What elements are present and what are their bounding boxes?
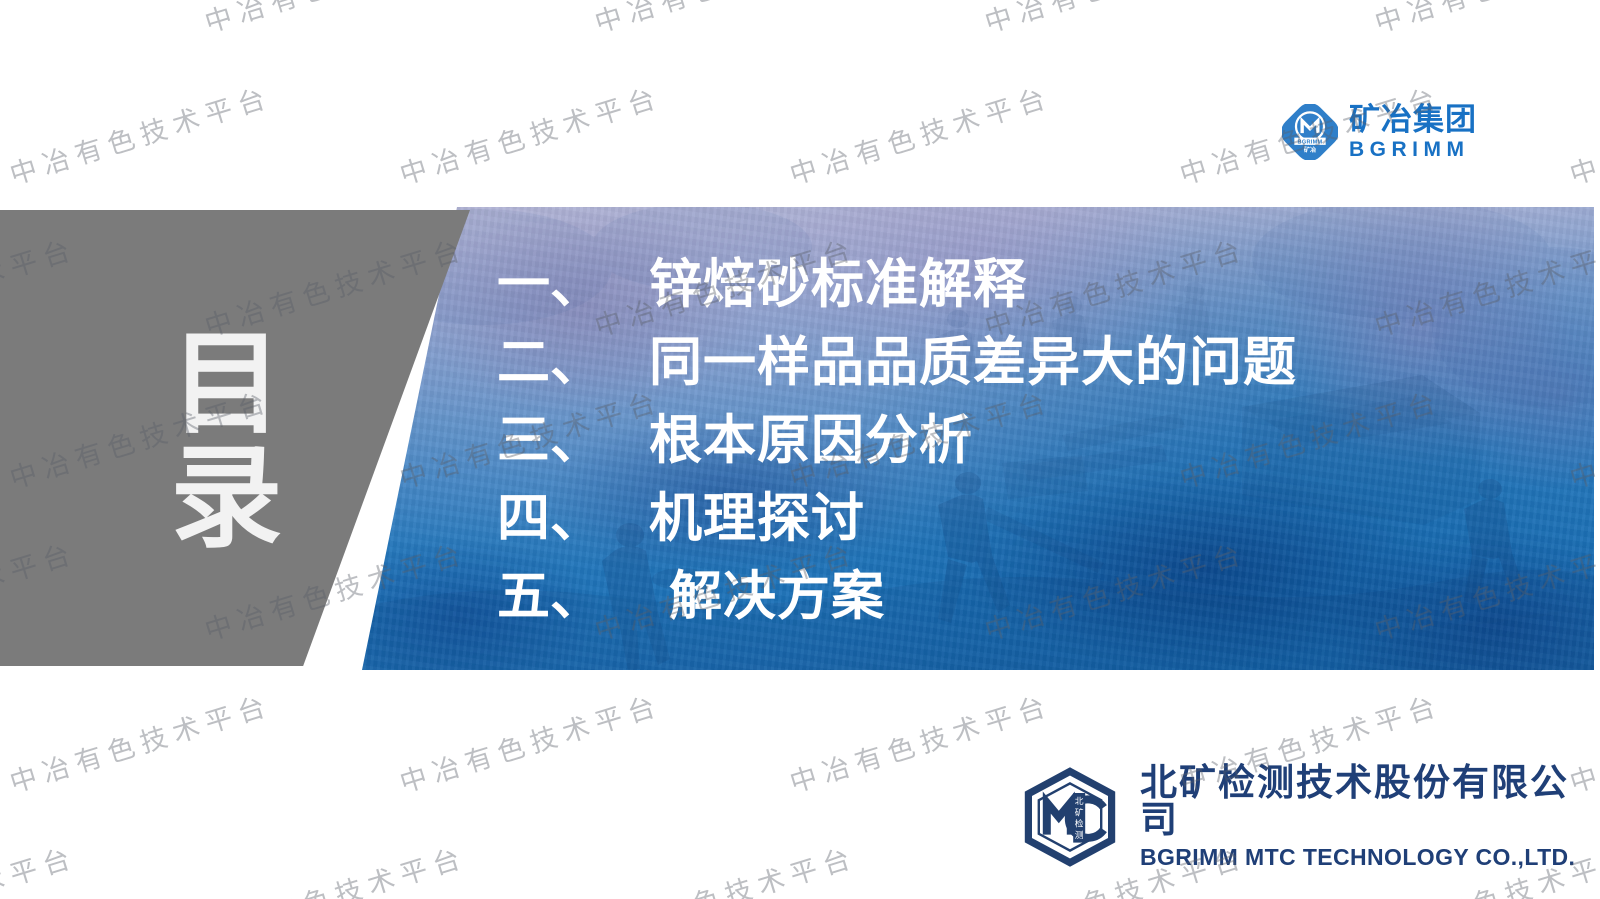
watermark-text: 中冶有色技术平台 xyxy=(394,75,666,192)
toc-item-number: 三、 xyxy=(497,402,649,480)
brand-name-en: BGRIMM xyxy=(1349,139,1477,160)
list-item[interactable]: 四、 机理探讨 xyxy=(497,480,1297,558)
svg-text:BGRIMM: BGRIMM xyxy=(1298,139,1323,145)
toc-item-label: 锌焙砂标准解释 xyxy=(649,246,1027,324)
watermark-text: 中冶有色技术平台 xyxy=(784,683,1056,800)
watermark-text: 中冶有色技术平台 xyxy=(0,835,81,899)
list-item[interactable]: 三、 根本原因分析 xyxy=(497,402,1297,480)
watermark-text: 中冶有色技术平台 xyxy=(589,0,861,40)
watermark-text: 中冶有色技术平台 xyxy=(199,0,471,40)
list-item[interactable]: 一、 锌焙砂标准解释 xyxy=(497,246,1297,324)
list-item[interactable]: 五、 解决方案 xyxy=(497,558,1297,636)
company-name-en: BGRIMM MTC TECHNOLOGY CO.,LTD. xyxy=(1140,846,1600,869)
bgrimm-diamond-logo-icon: BGRIMM 矿冶 xyxy=(1282,104,1338,160)
toc-item-label: 根本原因分析 xyxy=(649,402,973,480)
mtc-hexagon-logo-icon: 北 矿 检 测 xyxy=(1022,767,1118,867)
brand-logo-bgrimm-text: 矿冶集团 BGRIMM xyxy=(1349,105,1477,160)
svg-text:测: 测 xyxy=(1075,829,1084,840)
watermark-text: 中冶有色技术平台 xyxy=(199,835,471,899)
watermark-text: 中冶有色技术平台 xyxy=(589,835,861,899)
toc-item-number: 二、 xyxy=(497,324,649,402)
watermark-text: 中冶有色技术平台 xyxy=(1564,75,1600,192)
svg-text:检: 检 xyxy=(1075,817,1084,829)
svg-text:矿: 矿 xyxy=(1075,806,1084,818)
watermark-text: 中冶有色技术平台 xyxy=(1369,0,1600,40)
toc-item-label: 同一样品品质差异大的问题 xyxy=(649,324,1297,402)
svg-text:矿冶: 矿冶 xyxy=(1304,146,1317,154)
watermark-text: 中冶有色技术平台 xyxy=(784,75,1056,192)
watermark-text: 中冶有色技术平台 xyxy=(4,75,276,192)
brand-name-cn: 矿冶集团 xyxy=(1349,105,1477,136)
toc-item-label: 解决方案 xyxy=(649,558,885,636)
slide-canvas: 目录 一、 锌焙砂标准解释 二、 同一样品品质差异大的问题 三、 根本原因分析 … xyxy=(0,0,1600,899)
company-name-cn: 北矿检测技术股份有限公司 xyxy=(1140,764,1600,838)
brand-logo-mtc-text: 北矿检测技术股份有限公司 BGRIMM MTC TECHNOLOGY CO.,L… xyxy=(1140,764,1600,869)
svg-text:北: 北 xyxy=(1075,796,1084,807)
watermark-text: 中冶有色技术平台 xyxy=(394,683,666,800)
brand-logo-bgrimm: BGRIMM 矿冶 矿冶集团 BGRIMM xyxy=(1282,104,1477,160)
watermark-text: 中冶有色技术平台 xyxy=(979,0,1251,40)
list-item[interactable]: 二、 同一样品品质差异大的问题 xyxy=(497,324,1297,402)
watermark-text: 中冶有色技术平台 xyxy=(0,0,81,40)
watermark-text: 中冶有色技术平台 xyxy=(4,683,276,800)
toc-item-label: 机理探讨 xyxy=(649,480,865,558)
brand-logo-mtc: 北 矿 检 测 北矿检测技术股份有限公司 BGRIMM MTC TECHNOLO… xyxy=(1022,764,1600,869)
page-title: 目录 xyxy=(148,273,285,603)
toc-item-number: 四、 xyxy=(497,480,649,558)
toc-item-number: 一、 xyxy=(497,246,649,324)
toc-item-number: 五、 xyxy=(497,558,649,636)
table-of-contents-list: 一、 锌焙砂标准解释 二、 同一样品品质差异大的问题 三、 根本原因分析 四、 … xyxy=(497,246,1297,636)
